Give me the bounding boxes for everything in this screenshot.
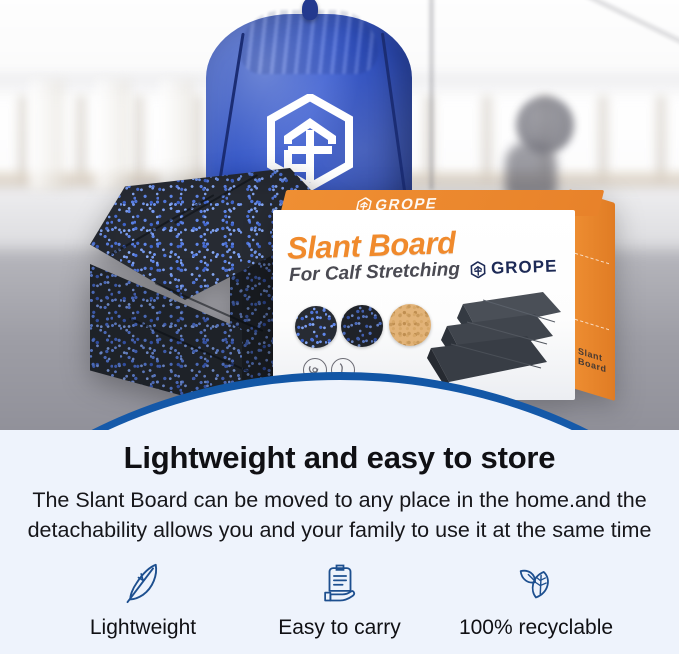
swatch-dark-speckle xyxy=(341,305,383,347)
hexagon-g-logo-icon xyxy=(469,260,486,278)
retail-box: Slant Board GROPE Slant Board For Calf S… xyxy=(273,190,623,402)
feature-label: Lightweight xyxy=(90,616,196,640)
feature-list: Lightweight Easy to carry xyxy=(48,558,631,640)
box-side-panel: Slant Board xyxy=(569,189,615,401)
feature-label: Easy to carry xyxy=(278,616,401,640)
body-copy-line-1: The Slant Board can be moved to any plac… xyxy=(12,486,667,516)
package-in-hand-icon xyxy=(319,558,361,608)
box-side-text: Slant Board xyxy=(578,346,615,377)
headline: Lightweight and easy to store xyxy=(0,440,679,476)
box-brand-lockup: GROPE xyxy=(469,256,557,279)
box-perforation-line xyxy=(575,319,609,330)
feature-item-easy-to-carry: Easy to carry xyxy=(245,558,435,640)
box-perforation-line xyxy=(575,253,609,264)
product-marketing-image: Slant Board GROPE Slant Board For Calf S… xyxy=(0,0,679,654)
box-wedge-illustration xyxy=(423,282,571,394)
feature-label: 100% recyclable xyxy=(459,616,613,640)
bag-cinch-knot xyxy=(302,0,318,20)
feature-item-lightweight: Lightweight xyxy=(48,558,238,640)
two-leaves-icon xyxy=(513,558,559,608)
swatch-blue-speckle xyxy=(295,306,337,348)
product-photo-scene: Slant Board GROPE Slant Board For Calf S… xyxy=(0,0,679,430)
body-copy-line-2: detachability allows you and your family… xyxy=(12,516,667,546)
background-pillar xyxy=(30,80,64,190)
feather-icon xyxy=(123,558,163,608)
background-rod xyxy=(430,0,433,190)
feature-text-panel: Lightweight and easy to store The Slant … xyxy=(0,400,679,654)
box-brand-text: GROPE xyxy=(490,256,557,278)
feature-item-recyclable: 100% recyclable xyxy=(441,558,631,640)
body-copy: The Slant Board can be moved to any plac… xyxy=(12,486,667,545)
